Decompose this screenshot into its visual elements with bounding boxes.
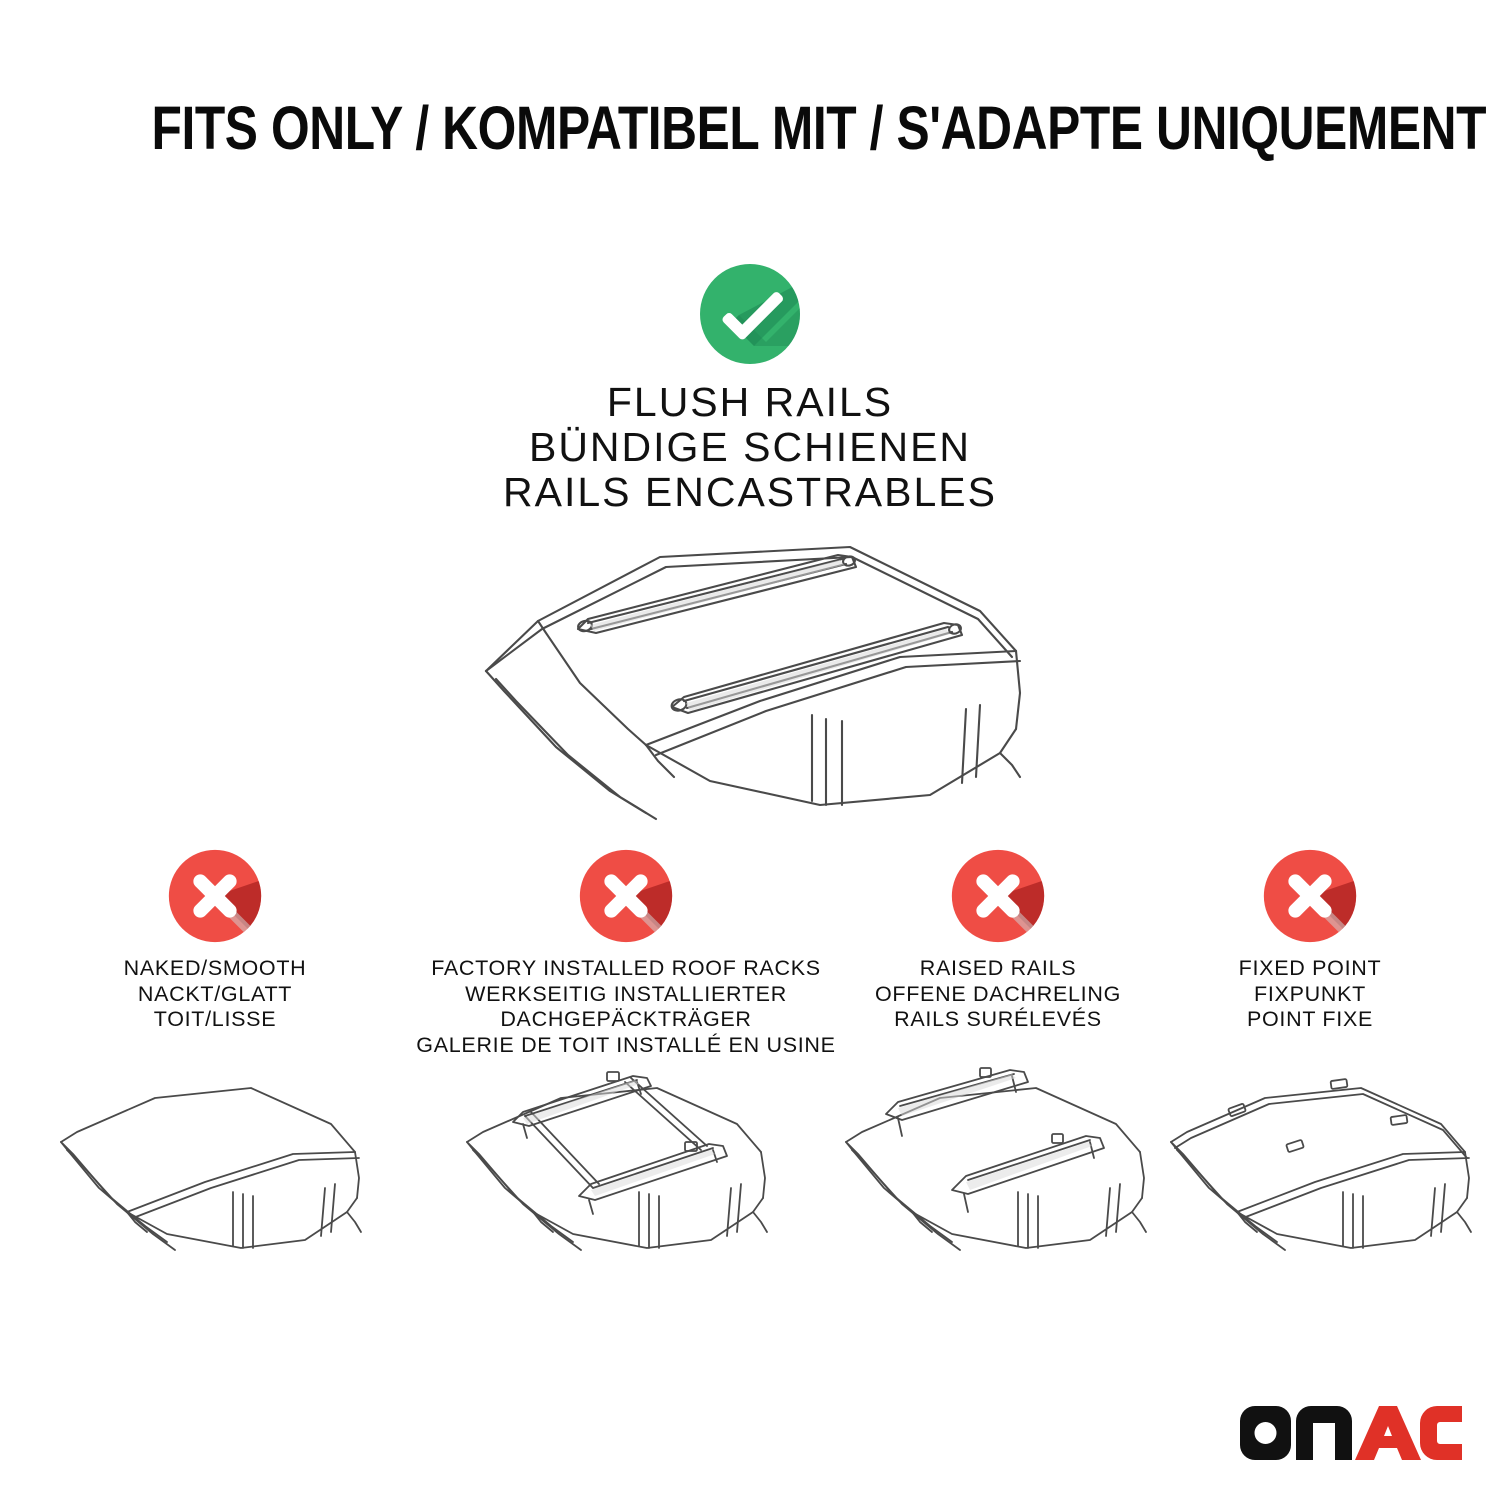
incompatible-label-line: FIXED POINT xyxy=(1165,956,1455,982)
incompatible-label-line: NACKT/GLATT xyxy=(55,982,375,1008)
incompatible-item-factory-roof-rack: FACTORY INSTALLED ROOF RACKS WERKSEITIG … xyxy=(400,848,852,1058)
incompatible-labels: RAISED RAILS OFFENE DACHRELING RAILS SUR… xyxy=(840,956,1156,1033)
red-x-circle-icon xyxy=(55,848,375,948)
omac-logo xyxy=(1238,1404,1464,1462)
incompatible-label-line: POINT FIXE xyxy=(1165,1007,1455,1033)
red-x-circle-icon xyxy=(1165,848,1455,948)
incompatible-label-line: DACHGEPÄCKTRÄGER xyxy=(400,1007,852,1033)
compatible-labels: FLUSH RAILS BÜNDIGE SCHIENEN RAILS ENCAS… xyxy=(0,380,1500,515)
incompatible-item-raised-rails: RAISED RAILS OFFENE DACHRELING RAILS SUR… xyxy=(840,848,1156,1033)
incompatible-label-line: FACTORY INSTALLED ROOF RACKS xyxy=(400,956,852,982)
page-title: FITS ONLY / KOMPATIBEL MIT / S'ADAPTE UN… xyxy=(0,96,1500,160)
incompatible-labels: NAKED/SMOOTH NACKT/GLATT TOIT/LISSE xyxy=(55,956,375,1033)
incompatible-labels: FIXED POINT FIXPUNKT POINT FIXE xyxy=(1165,956,1455,1033)
green-check-circle-icon xyxy=(0,262,1500,366)
naked-smooth-roof-icon xyxy=(55,1066,375,1281)
incompatible-label-line: RAISED RAILS xyxy=(840,956,1156,982)
incompatible-label-line: FIXPUNKT xyxy=(1165,982,1455,1008)
incompatible-label-line: OFFENE DACHRELING xyxy=(840,982,1156,1008)
incompatible-section: NAKED/SMOOTH NACKT/GLATT TOIT/LISSE xyxy=(0,848,1500,1308)
page-title-text: FITS ONLY / KOMPATIBEL MIT / S'ADAPTE UN… xyxy=(151,96,1486,160)
incompatible-label-line: TOIT/LISSE xyxy=(55,1007,375,1033)
incompatible-labels: FACTORY INSTALLED ROOF RACKS WERKSEITIG … xyxy=(400,956,852,1058)
raised-rails-roof-icon xyxy=(840,1066,1156,1281)
compatible-label-line: RAILS ENCASTRABLES xyxy=(0,470,1500,515)
incompatible-label-line: RAILS SURÉLEVÉS xyxy=(840,1007,1156,1033)
red-x-circle-icon xyxy=(840,848,1156,948)
fixed-point-roof-icon xyxy=(1165,1066,1455,1281)
compatible-label-line: BÜNDIGE SCHIENEN xyxy=(0,425,1500,470)
red-x-circle-icon xyxy=(400,848,852,948)
incompatible-label-line: NAKED/SMOOTH xyxy=(55,956,375,982)
incompatible-label-line: WERKSEITIG INSTALLIERTER xyxy=(400,982,852,1008)
incompatible-item-naked-smooth: NAKED/SMOOTH NACKT/GLATT TOIT/LISSE xyxy=(55,848,375,1033)
incompatible-item-fixed-point: FIXED POINT FIXPUNKT POINT FIXE xyxy=(1165,848,1455,1033)
flush-rails-roof-icon xyxy=(0,533,1500,833)
compatible-label-line: FLUSH RAILS xyxy=(0,380,1500,425)
compatible-section: FLUSH RAILS BÜNDIGE SCHIENEN RAILS ENCAS… xyxy=(0,262,1500,833)
factory-roof-rack-icon xyxy=(400,1066,852,1281)
incompatible-label-line: GALERIE DE TOIT INSTALLÉ EN USINE xyxy=(400,1033,852,1059)
